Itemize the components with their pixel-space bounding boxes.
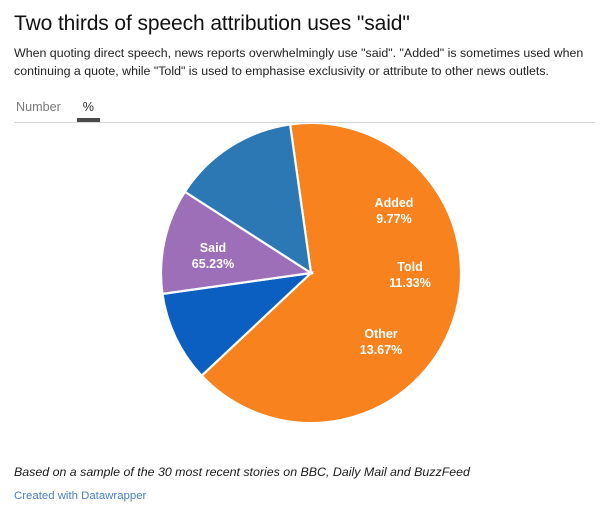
- chart-source-note: Based on a sample of the 30 most recent …: [14, 464, 595, 480]
- pie-label-told-value: 11.33%: [389, 276, 431, 290]
- pie-label-other-value: 13.67%: [360, 343, 402, 357]
- pie-chart-svg: Said 65.23% Added 9.77% Told 11.33% Othe…: [0, 123, 609, 458]
- chart-footer: Based on a sample of the 30 most recent …: [0, 464, 609, 518]
- pie-chart-area: Said 65.23% Added 9.77% Told 11.33% Othe…: [0, 123, 609, 458]
- tab-percent-label: %: [83, 100, 94, 114]
- chart-description: When quoting direct speech, news reports…: [14, 45, 584, 80]
- datawrapper-credit-link[interactable]: Created with Datawrapper: [14, 490, 146, 502]
- pie-label-added-value: 9.77%: [376, 212, 411, 226]
- tab-number[interactable]: Number: [14, 99, 63, 122]
- chart-tabs: Number %: [0, 96, 609, 122]
- pie-label-said-value: 65.23%: [192, 257, 234, 271]
- page-title: Two thirds of speech attribution uses "s…: [14, 11, 595, 36]
- tab-number-label: Number: [16, 100, 61, 114]
- pie-label-other-name: Other: [364, 327, 397, 341]
- pie-label-said-name: Said: [200, 241, 226, 255]
- datawrapper-chart-page: Two thirds of speech attribution uses "s…: [0, 0, 609, 518]
- tab-percent[interactable]: %: [81, 99, 96, 122]
- chart-header: Two thirds of speech attribution uses "s…: [0, 0, 609, 80]
- pie-label-added-name: Added: [375, 196, 414, 210]
- pie-label-told-name: Told: [397, 260, 422, 274]
- tab-list: Number %: [14, 96, 595, 122]
